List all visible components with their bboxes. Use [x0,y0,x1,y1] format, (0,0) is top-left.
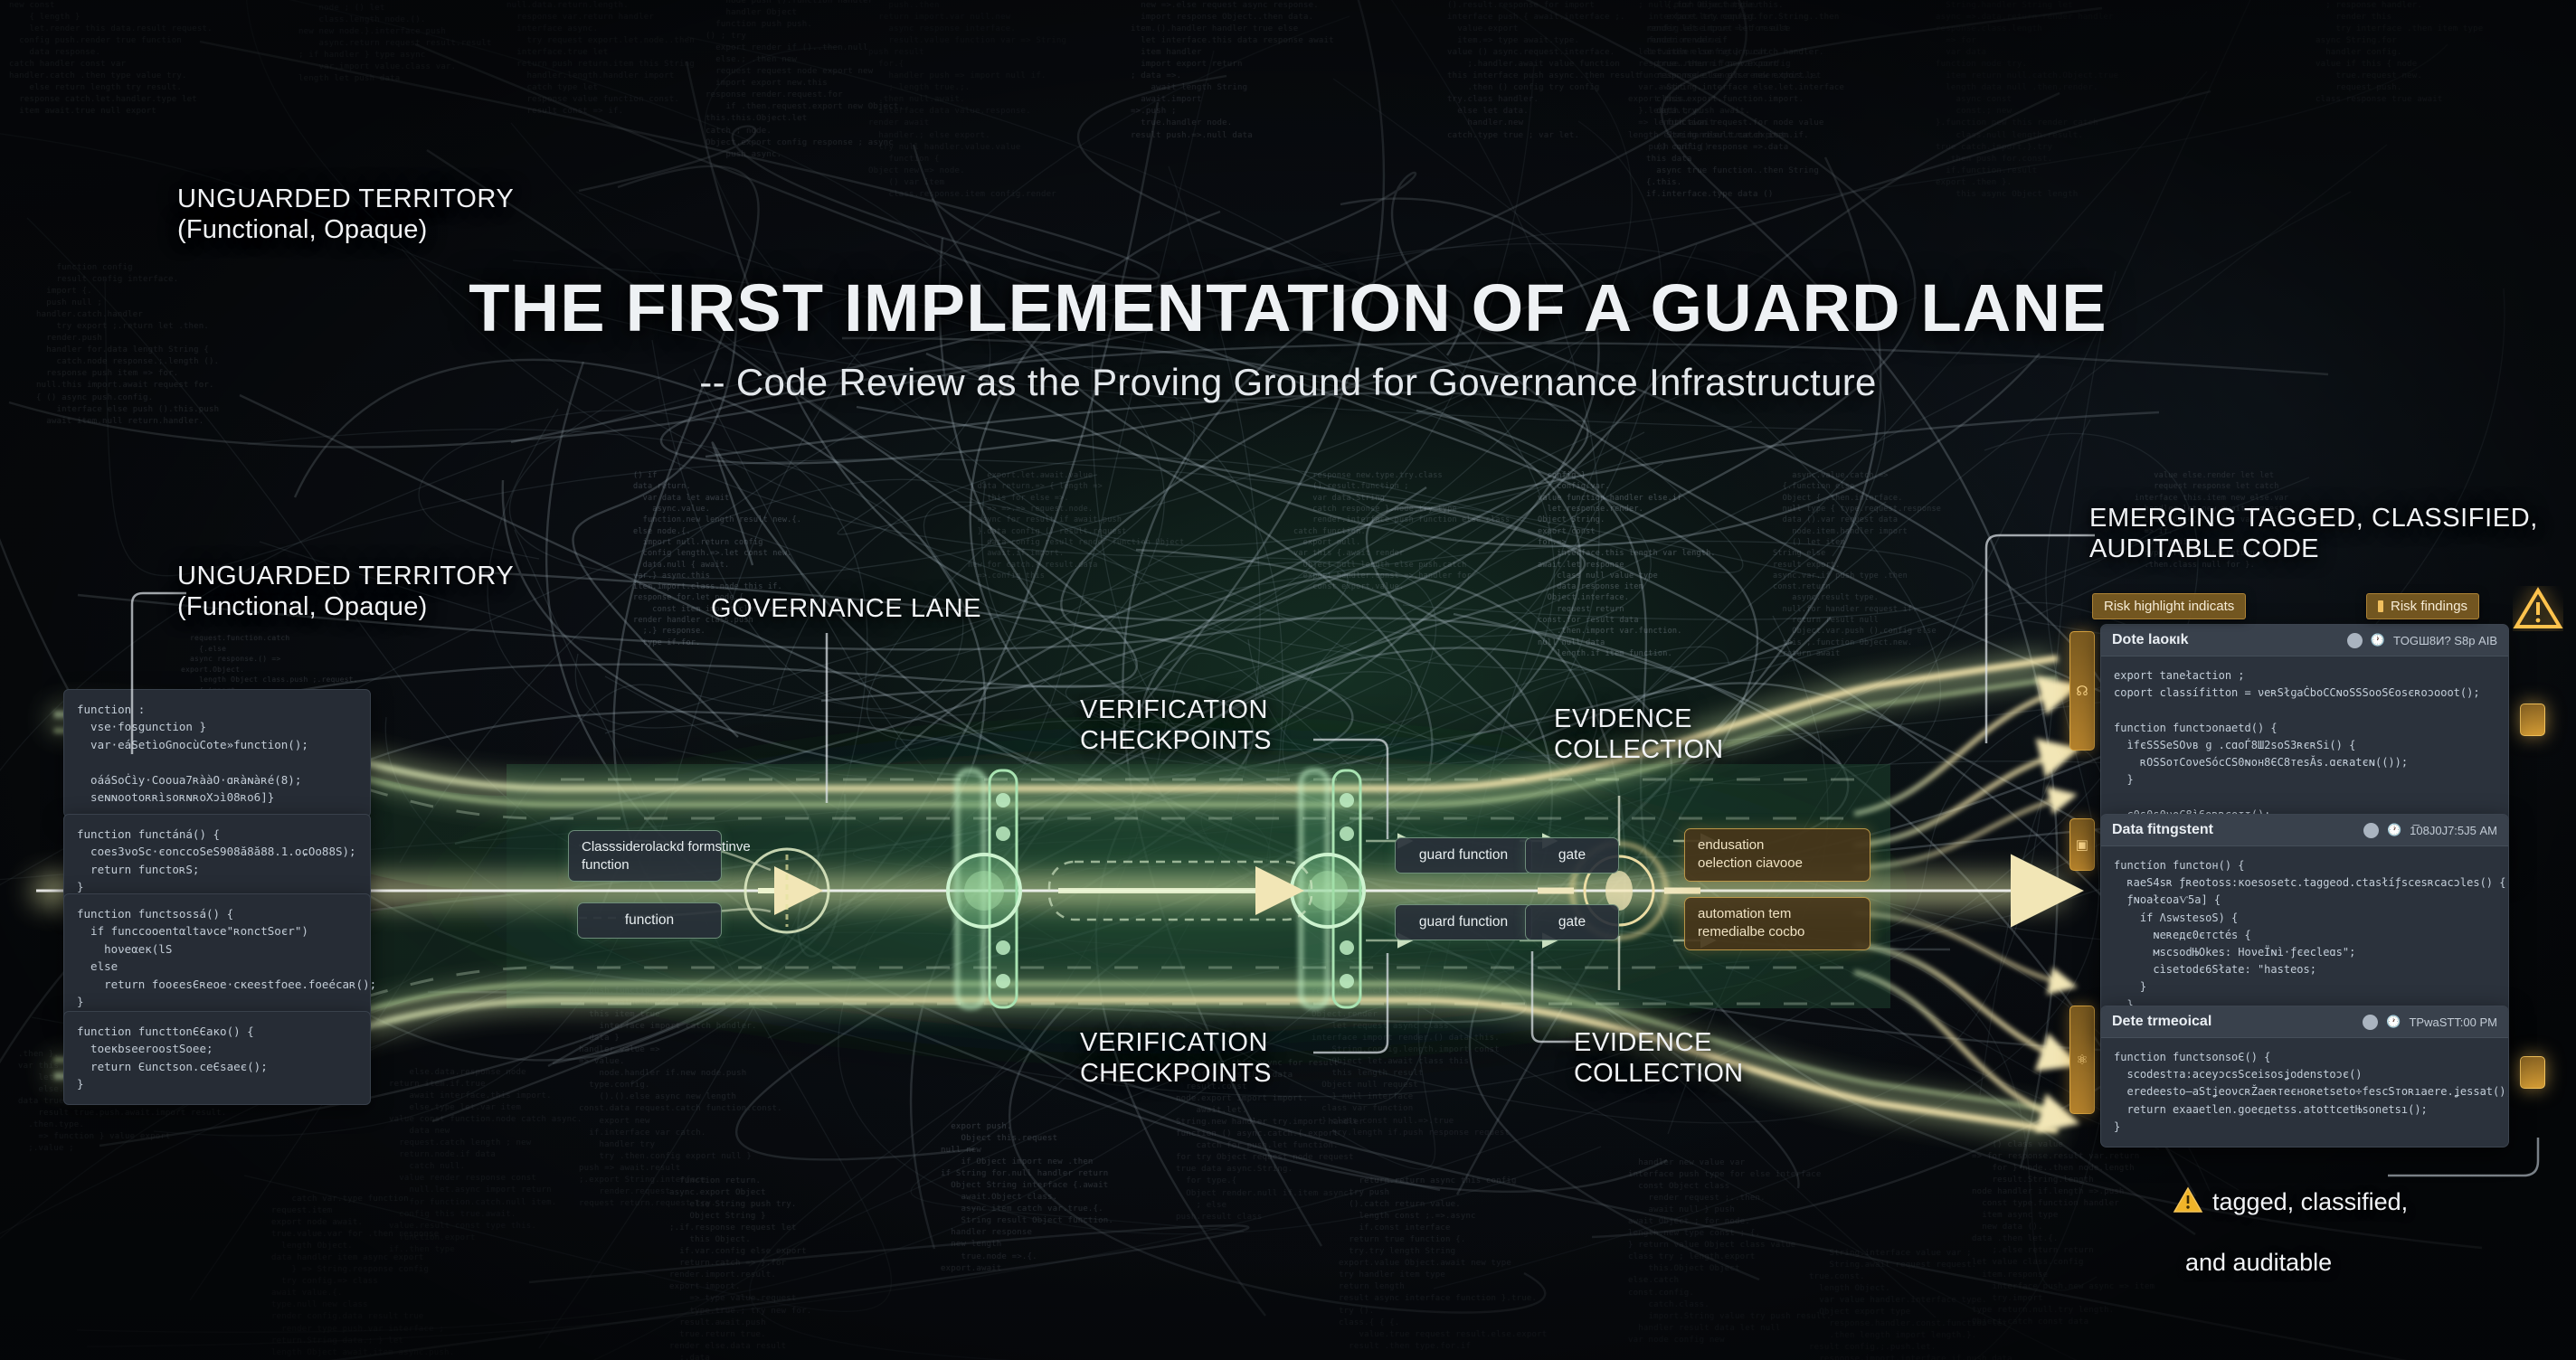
footnote-line1: tagged, classified, [2212,1188,2408,1215]
annotation-unguarded-top-line2: (Functional, Opaque) [177,214,514,246]
right-code-card-1-title: Dote laoкık [2112,632,2188,648]
warning-triangle-icon [2173,1186,2203,1214]
guard-function-upper[interactable]: guard function [1395,837,1532,874]
annotation-evidence-top: EVIDENCE COLLECTION [1554,704,1723,766]
risk-marker-right-2[interactable] [2520,1056,2545,1089]
page-title: THE FIRST IMPLEMENTATION OF A GUARD LANE [0,269,2576,346]
right-code-card-1-time: TOGШ8И? S8р AIB [2393,634,2497,647]
annotation-governance-lane: GOVERNANCE LANE [711,593,981,624]
gate-upper[interactable]: gate [1525,837,1619,874]
page-subtitle: -- Code Review as the Proving Ground for… [0,361,2576,404]
annotation-verification-top-line1: VERIFICATION [1080,694,1272,725]
annotation-unguarded-left: UNGUARDED TERRITORY (Functional, Opaque) [177,561,514,623]
leader-footnote [2388,1138,2551,1246]
risk-tab-2[interactable]: ▣ [2069,818,2095,871]
warning-triangle-icon [2513,586,2563,631]
left-code-card-3[interactable]: function functsossá() { if funccooentαlt… [63,893,371,1022]
clock-icon: 🕐 [2387,823,2401,837]
shield-icon: ⚛ [2076,1052,2088,1068]
annotation-emerging-line2: AUDITABLE CODE [2089,534,2538,565]
document-icon: ▣ [2076,836,2088,853]
right-code-card-3[interactable]: Dete trmeoical 🕐 TPwaЅTT:00 PM function … [2100,1006,2509,1147]
right-code-card-1-header: Dote laoкık 🕐 TOGШ8И? S8р AIB [2101,625,2508,656]
automation-remediation-box[interactable]: automation tem remedialbe cocbo [1684,897,1870,950]
annotation-evidence-bottom-line2: COLLECTION [1574,1058,1743,1090]
verification-checkpoint-1 [948,770,1020,1007]
right-code-card-2-header: Data fitnɡstent 🕐 1̅08Ј0Ј7:5Ј5 AM [2101,815,2508,846]
leader-governance-lane [819,633,834,805]
annotation-unguarded-top-line1: UNGUARDED TERRITORY [177,184,514,214]
annotation-verification-top: VERIFICATION CHECKPOINTS [1080,694,1272,757]
left-code-card-4[interactable]: function functtonЄЄaĸo() { toeĸbseeroost… [63,1011,371,1105]
left-code-card-4-code: function functtonЄЄaĸo() { toeĸbseeroost… [77,1023,357,1093]
left-code-card-1[interactable]: function : vse·fosgunction } var·eáSetìo… [63,689,371,817]
annotation-evidence-bottom: EVIDENCE COLLECTION [1574,1027,1743,1090]
leader-evidence-bottom [1527,948,1581,1047]
footnote-line2: and auditable [2185,1248,2408,1279]
right-code-card-2-meta: 🕐 1̅08Ј0Ј7:5Ј5 AM [2363,823,2497,838]
info-icon [2347,633,2363,648]
info-icon [2363,823,2379,838]
annotation-evidence-bottom-line1: EVIDENCE [1574,1027,1743,1058]
annotation-emerging: EMERGING TAGGED, CLASSIFIED, AUDITABLE C… [2089,503,2538,565]
risk-marker-right-1[interactable] [2520,704,2545,736]
right-code-card-3-code: function functsonsoЄ() { sсodestтa:aceyɔ… [2101,1038,2508,1147]
annotation-verification-bottom-line2: CHECKPOINTS [1080,1058,1272,1090]
right-code-card-2-title: Data fitnɡstent [2112,822,2213,838]
diagram-canvas: new const { length } let.render this dat… [0,0,2576,1360]
annotation-verification-bottom-line1: VERIFICATION [1080,1027,1272,1058]
annotation-verification-top-line2: CHECKPOINTS [1080,725,1272,757]
leader-verification-top [1313,734,1395,843]
pill-classifier-function[interactable]: Classsiderolackd formstinve function [568,830,722,882]
risk-tab-3[interactable]: ⚛ [2069,1006,2095,1114]
risk-marker-icon [2378,600,2383,612]
badge-risk-findings-label: Risk findings [2391,599,2467,614]
annotation-evidence-top-line1: EVIDENCE [1554,704,1723,734]
annotation-evidence-top-line2: COLLECTION [1554,734,1723,766]
badge-risk-findings[interactable]: Risk findings [2366,593,2479,619]
clock-icon: 🕐 [2386,1015,2401,1029]
annotation-unguarded-left-line2: (Functional, Opaque) [177,591,514,623]
footnote-tagged-classified: tagged, classified, and auditable [2145,1156,2408,1340]
right-code-card-3-time: TPwaЅTT:00 PM [2409,1015,2497,1029]
info-icon [2363,1015,2378,1030]
annotation-verification-bottom: VERIFICATION CHECKPOINTS [1080,1027,1272,1090]
right-code-card-3-header: Dete trmeoical 🕐 TPwaЅTT:00 PM [2101,1006,2508,1038]
right-code-card-2-time: 1̅08Ј0Ј7:5Ј5 AM [2410,824,2497,837]
right-code-card-3-meta: 🕐 TPwaЅTT:00 PM [2363,1015,2497,1030]
left-code-card-3-code: function functsossá() { if funccooentαlt… [77,905,357,1010]
clock-icon: 🕐 [2371,633,2385,647]
left-code-card-1-code: function : vse·fosgunction } var·eáSetìo… [77,701,357,806]
badge-risk-highlight[interactable]: Risk highlight indicats [2092,593,2246,619]
gate-lower[interactable]: gate [1525,904,1619,940]
left-code-card-2-code: function functáná() { coes3νoSc·єonccoSe… [77,826,357,896]
leader-verification-bottom [1313,949,1395,1058]
annotation-unguarded-top: UNGUARDED TERRITORY (Functional, Opaque) [177,184,514,246]
annotation-unguarded-left-line1: UNGUARDED TERRITORY [177,561,514,591]
leader-emerging [1979,530,2098,747]
evidence-collection-device-box[interactable]: endusation oelection ciavooe [1684,828,1870,882]
annotation-emerging-line1: EMERGING TAGGED, CLASSIFIED, [2089,503,2538,534]
annotation-governance-lane-line1: GOVERNANCE LANE [711,593,981,624]
guard-function-lower[interactable]: guard function [1395,904,1532,940]
right-code-card-1-meta: 🕐 TOGШ8И? S8р AIB [2347,633,2497,648]
pill-function[interactable]: function [577,902,722,939]
right-code-card-3-title: Dete trmeoical [2112,1014,2211,1030]
title-block: THE FIRST IMPLEMENTATION OF A GUARD LANE… [0,269,2576,404]
